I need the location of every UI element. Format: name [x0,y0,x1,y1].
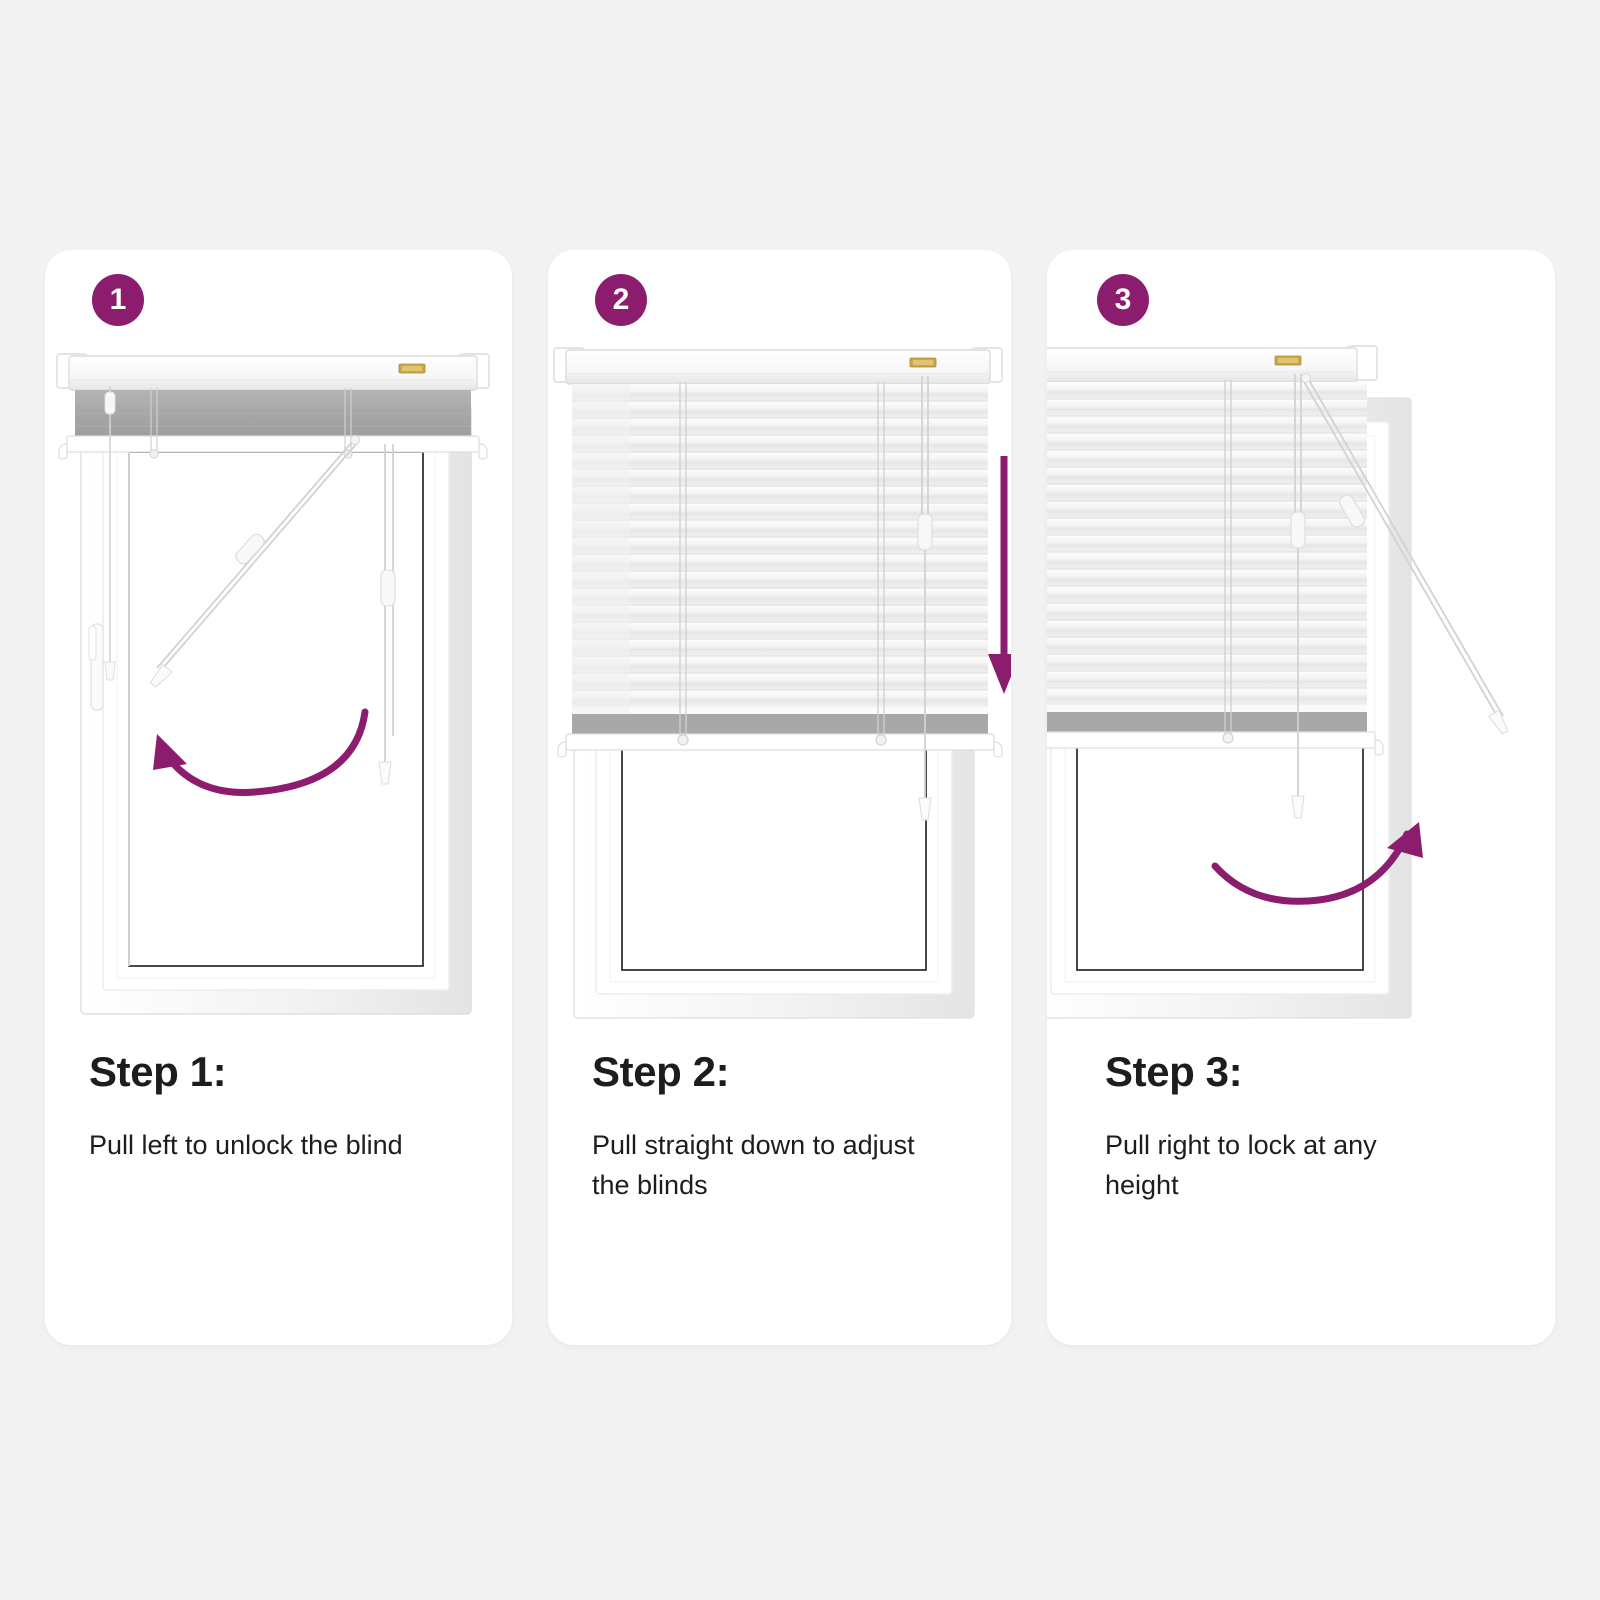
step-illustration-3 [1047,336,1555,1036]
blind-headrail [554,348,1002,384]
step-number-badge-3: 3 [1097,274,1149,326]
blind-lowered-illustration [548,336,1011,1036]
step-title-2: Step 2: [592,1050,985,1094]
step-title-1: Step 1: [89,1050,486,1094]
step-description-2: Pull straight down to adjust the blinds [592,1126,922,1205]
blind-raised-illustration [45,336,512,1036]
step-text-3: Step 3: Pull right to lock at any height [1105,1050,1529,1205]
step-number-badge-2: 2 [595,274,647,326]
step-description-1: Pull left to unlock the blind [89,1126,419,1165]
blind-locked-illustration [1047,336,1555,1036]
step-title-3: Step 3: [1105,1050,1529,1094]
blind-headrail [1047,346,1377,382]
step-card-2: 2 [548,250,1011,1345]
step-text-2: Step 2: Pull straight down to adjust the… [592,1050,985,1205]
step-card-1: 1 [45,250,512,1345]
straight-arrow-down-icon [988,456,1011,694]
blind-slat-stack [59,390,487,459]
step-illustration-1 [45,336,512,1036]
step-text-1: Step 1: Pull left to unlock the blind [89,1050,486,1166]
step-card-3: 3 [1047,250,1555,1345]
blind-bottom-rail [1047,712,1383,755]
step-description-3: Pull right to lock at any height [1105,1126,1435,1205]
step-number-badge-1: 1 [92,274,144,326]
step-illustration-2 [548,336,1011,1036]
window-handle [89,624,103,710]
blind-headrail [57,354,489,390]
window-frame [81,404,471,1014]
blind-slats [1047,382,1367,712]
instruction-board: 1 [0,0,1600,1600]
blind-bottom-rail [558,714,1002,757]
